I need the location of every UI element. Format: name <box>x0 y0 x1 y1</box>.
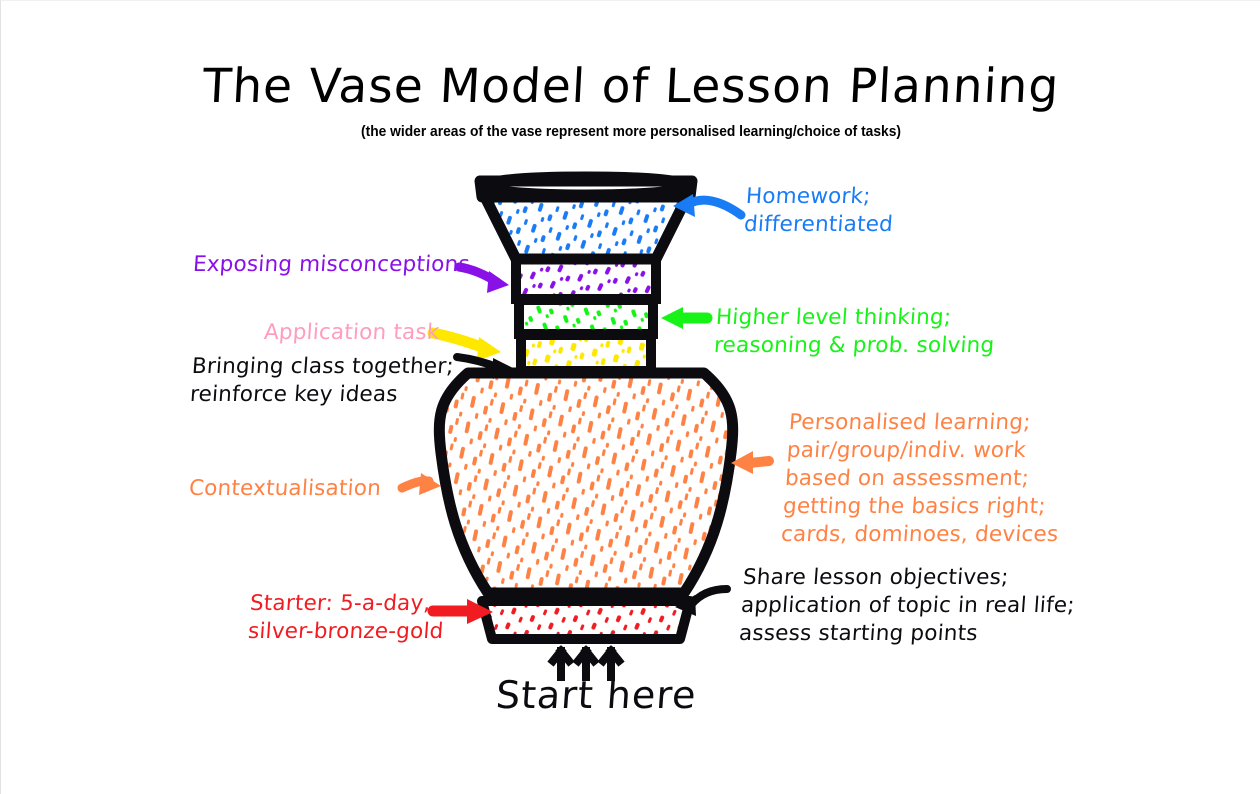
vase-band-green <box>519 300 653 334</box>
label-higher-level-thinking: Higher level thinking; reasoning & prob.… <box>713 304 997 360</box>
label-share-lesson-objectives: Share lesson objectives; application of … <box>738 564 1078 648</box>
curved-arrow-left-icon <box>673 194 741 217</box>
arrow-right-orange-icon <box>402 473 441 495</box>
page-subtitle: (the wider areas of the vase represent m… <box>51 123 1210 140</box>
vase-neck-blue-band <box>482 191 690 259</box>
label-homework: Homework; differentiated <box>743 183 896 239</box>
label-application-task: Application task <box>263 319 440 347</box>
arrow-left-orange-icon <box>731 451 769 474</box>
label-starter: Starter: 5-a-day, silver-bronze-gold <box>247 590 446 646</box>
diagram-canvas: The Vase Model of Lesson Planning (the w… <box>0 0 1260 794</box>
label-exposing-misconceptions: Exposing misconceptions <box>192 251 471 279</box>
label-contextualisation: Contextualisation <box>188 475 382 503</box>
label-personalised-learning: Personalised learning; pair/group/indiv.… <box>780 409 1067 549</box>
start-here-label: Start here <box>494 673 698 717</box>
page-title: The Vase Model of Lesson Planning <box>0 59 1260 114</box>
arrow-left-green-icon <box>661 307 707 329</box>
vase-band-purple <box>516 259 656 299</box>
vase-rim <box>480 176 692 197</box>
curved-arrow-left-black-icon <box>675 589 727 616</box>
vase-band-yellow <box>521 335 651 371</box>
vase-base-red-band <box>482 601 690 639</box>
arrow-right-black-icon <box>457 357 515 379</box>
label-bringing-class-together: Bringing class together; reinforce key i… <box>189 353 455 409</box>
vase-body <box>439 373 732 593</box>
